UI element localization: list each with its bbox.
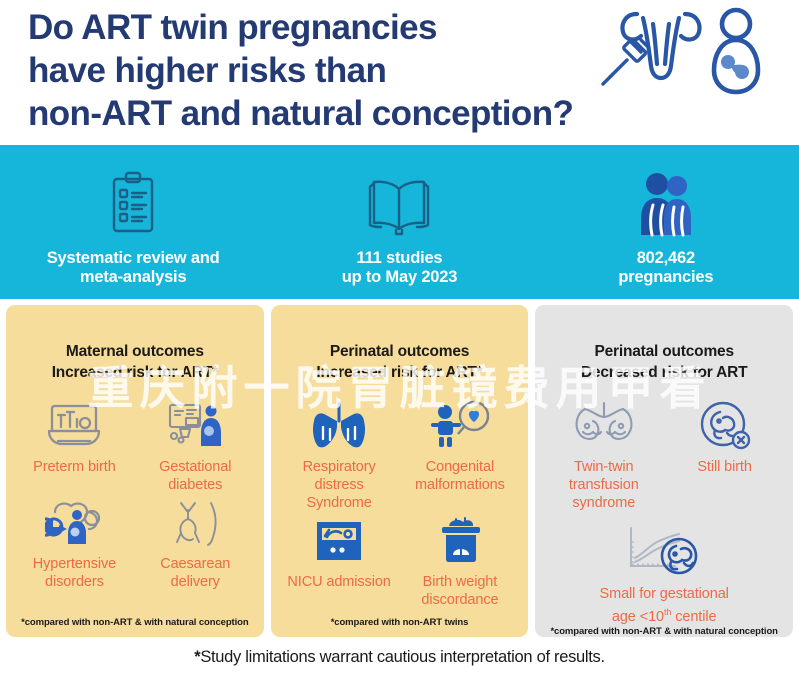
panel-maternal-title-line1: Maternal outcomes bbox=[66, 343, 204, 360]
outcome-label: Twin-twin transfusion syndrome bbox=[569, 458, 639, 512]
outcome-label: Small for gestational age <10th centile bbox=[600, 585, 729, 626]
stat-cell-pregnancies: 802,462 pregnancies bbox=[533, 157, 799, 287]
stat-studies-line1: 111 studies bbox=[357, 249, 443, 267]
outcome-label: Still birth bbox=[697, 458, 752, 476]
twin-twin-transfusion-icon bbox=[571, 397, 637, 453]
stat-pregnancies-line2: pregnancies bbox=[618, 268, 713, 286]
panel-maternal-items: Preterm birth bbox=[14, 389, 256, 617]
still-birth-icon bbox=[697, 397, 753, 453]
gestational-diabetes-icon bbox=[166, 397, 224, 453]
panel-perinatal-increased: Perinatal outcomes Increased risk for AR… bbox=[271, 305, 529, 637]
panel-perinatal-increased-title-line2: Increased risk for ART* bbox=[281, 362, 519, 383]
uterus-syringe-ivf-icon bbox=[597, 4, 777, 96]
outcome-item: Gestational diabetes bbox=[135, 397, 256, 494]
panel-perinatal-decreased-title-line2: Decreased risk for ART bbox=[545, 362, 783, 383]
stat-method-line1: Systematic review and bbox=[47, 249, 220, 267]
stat-label-studies: 111 studies up to May 2023 bbox=[342, 249, 458, 287]
header: Do ART twin pregnancies have higher risk… bbox=[0, 0, 799, 145]
panel-maternal-note: *compared with non-ART & with natural co… bbox=[14, 617, 256, 637]
birth-weight-scale-icon bbox=[432, 512, 488, 568]
stat-label-method: Systematic review and meta-analysis bbox=[47, 249, 220, 287]
outcome-item: NICU admission bbox=[279, 512, 400, 609]
two-people-icon bbox=[636, 165, 696, 237]
outcome-item: Congenital malformations bbox=[400, 397, 521, 512]
stat-studies-line2: up to May 2023 bbox=[342, 268, 458, 286]
baby-figure bbox=[431, 405, 461, 447]
stats-band: Systematic review and meta-analysis bbox=[0, 145, 799, 299]
outcome-label: NICU admission bbox=[287, 573, 390, 591]
pregnant-woman-twins-icon bbox=[714, 10, 758, 92]
infographic-page: Do ART twin pregnancies have higher risk… bbox=[0, 0, 799, 684]
outcome-item: Caesarean delivery bbox=[135, 494, 256, 591]
outcome-label: Hypertensive disorders bbox=[33, 555, 116, 591]
clipboard-checklist-icon bbox=[106, 165, 160, 237]
stat-method-line2: meta-analysis bbox=[80, 268, 187, 286]
stat-label-pregnancies: 802,462 pregnancies bbox=[618, 249, 713, 287]
outcome-label: Caesarean delivery bbox=[160, 555, 230, 591]
congenital-malformations-icon bbox=[429, 397, 491, 453]
outcome-item: Small for gestational age <10th centile bbox=[543, 522, 785, 626]
stat-cell-method: Systematic review and meta-analysis bbox=[0, 157, 266, 287]
small-for-gestational-age-chart-icon bbox=[621, 522, 707, 578]
outcome-label: Congenital malformations bbox=[415, 458, 505, 494]
outcome-item: Twin-twin transfusion syndrome bbox=[543, 397, 664, 512]
outcome-label: Gestational diabetes bbox=[159, 458, 231, 494]
preterm-birth-incubator-icon bbox=[46, 397, 102, 453]
panel-maternal-title-line2: Increased risk for ART* bbox=[16, 362, 254, 383]
panel-perinatal-increased-note: *compared with non-ART twins bbox=[279, 617, 521, 637]
panel-maternal-outcomes: Maternal outcomes Increased risk for ART… bbox=[6, 305, 264, 637]
outcome-label: Birth weight discordance bbox=[421, 573, 498, 609]
panel-maternal-title: Maternal outcomes Increased risk for ART… bbox=[14, 319, 256, 389]
panel-perinatal-decreased: Perinatal outcomes Decreased risk for AR… bbox=[535, 305, 793, 637]
stat-cell-studies: 111 studies up to May 2023 bbox=[266, 157, 532, 287]
panel-perinatal-increased-title: Perinatal outcomes Increased risk for AR… bbox=[279, 319, 521, 389]
title-line-1: Do ART twin pregnancies bbox=[28, 6, 608, 49]
open-book-icon bbox=[367, 165, 431, 237]
page-title: Do ART twin pregnancies have higher risk… bbox=[28, 6, 608, 135]
outcome-item: Preterm birth bbox=[14, 397, 135, 494]
syringe-icon bbox=[603, 39, 649, 84]
outcome-item: Still birth bbox=[664, 397, 785, 512]
nicu-incubator-icon bbox=[311, 512, 367, 568]
panel-perinatal-increased-title-line1: Perinatal outcomes bbox=[330, 343, 469, 360]
panel-perinatal-decreased-title: Perinatal outcomes Decreased risk for AR… bbox=[543, 319, 785, 389]
outcome-label: Respiratory distress Syndrome bbox=[281, 458, 398, 512]
title-line-2: have higher risks than bbox=[28, 49, 608, 92]
panel-perinatal-decreased-items: Twin-twin transfusion syndrome bbox=[543, 389, 785, 626]
outcome-label: Preterm birth bbox=[33, 458, 116, 476]
panel-perinatal-decreased-title-line1: Perinatal outcomes bbox=[594, 343, 733, 360]
stat-pregnancies-line1: 802,462 bbox=[637, 249, 695, 267]
panel-perinatal-decreased-note: *compared with non-ART & with natural co… bbox=[543, 626, 785, 646]
outcome-item: Hypertensive disorders bbox=[14, 494, 135, 591]
footer-disclaimer: *Study limitations warrant cautious inte… bbox=[194, 648, 605, 667]
twin-babies-icon bbox=[721, 55, 749, 79]
cross-mark-icon bbox=[733, 432, 749, 448]
panel-perinatal-increased-items: Respiratory distress Syndrome bbox=[279, 389, 521, 617]
footer-disclaimer-text: Study limitations warrant cautious inter… bbox=[200, 648, 604, 666]
title-line-3: non-ART and natural conception? bbox=[28, 92, 608, 135]
outcome-item: Birth weight discordance bbox=[400, 512, 521, 609]
pregnant-woman-silhouette bbox=[201, 406, 221, 447]
lungs-icon bbox=[310, 397, 368, 453]
hypertensive-disorders-icon bbox=[45, 494, 103, 550]
header-icon-group bbox=[597, 4, 777, 96]
outcome-panels: Maternal outcomes Increased risk for ART… bbox=[0, 299, 799, 637]
caesarean-delivery-icon bbox=[169, 494, 221, 550]
outcome-item: Respiratory distress Syndrome bbox=[279, 397, 400, 512]
